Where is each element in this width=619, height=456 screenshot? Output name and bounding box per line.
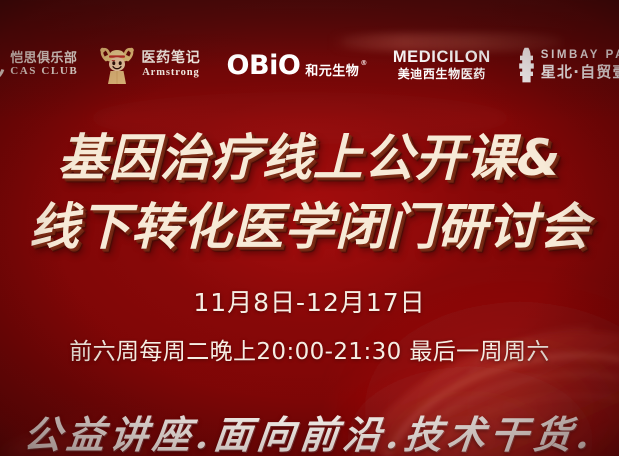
sponsor-logo-cas-club: 恺 思 恺思俱乐部 CAS CLUB	[0, 48, 78, 82]
event-schedule: 前六周每周二晚上20:00-21:30 最后一周周六	[0, 332, 619, 366]
circular-seal-icon: 恺 思	[0, 48, 5, 82]
event-date-range: 11月8日-12月17日	[0, 283, 619, 319]
headline-line-2: 线下转化医学闭门研讨会	[0, 193, 619, 262]
poster-headline: 基因治疗线上公开课& 线下转化医学闭门研讨会	[0, 124, 619, 262]
promo-poster: 恺 思 恺思俱乐部 CAS CLUB	[0, 0, 619, 456]
sponsor-name-en: SIMBAY PARK	[541, 49, 619, 63]
sponsor-logo-simbay-park: SIMBAY PARK 星北·自贸壹号	[517, 47, 619, 83]
sponsor-name-en: CAS CLUB	[10, 66, 78, 78]
sponsor-logo-armstrong: 医药笔记 Armstrong	[98, 45, 200, 85]
sponsor-logo-strip: 恺 思 恺思俱乐部 CAS CLUB	[0, 36, 619, 94]
sponsor-name-cn: 星北·自贸壹号	[541, 63, 619, 81]
sponsor-name-en: Armstrong	[141, 67, 200, 79]
sponsor-name-cn-text: 和元生物	[305, 64, 359, 79]
sponsor-name-cn: 美迪西生物医药	[398, 68, 486, 82]
sponsor-name-en: MEDICILON	[393, 48, 491, 67]
straw-hat-character-icon	[98, 45, 136, 85]
tower-building-icon	[517, 47, 536, 83]
sponsor-name-cn: 恺思俱乐部	[10, 52, 78, 66]
registered-mark: ®	[360, 59, 368, 67]
sponsor-name-en: OBiO	[227, 52, 301, 79]
headline-line-1: 基因治疗线上公开课&	[0, 124, 619, 193]
sponsor-logo-obio: OBiO 和元生物®	[227, 52, 367, 79]
sponsor-name-cn: 和元生物®	[305, 60, 367, 79]
poster-tagline: 公益讲座.面向前沿.技术干货.	[0, 404, 619, 456]
sponsor-name-cn: 医药笔记	[141, 51, 200, 67]
sponsor-logo-medicilon: MEDICILON 美迪西生物医药	[393, 48, 491, 81]
